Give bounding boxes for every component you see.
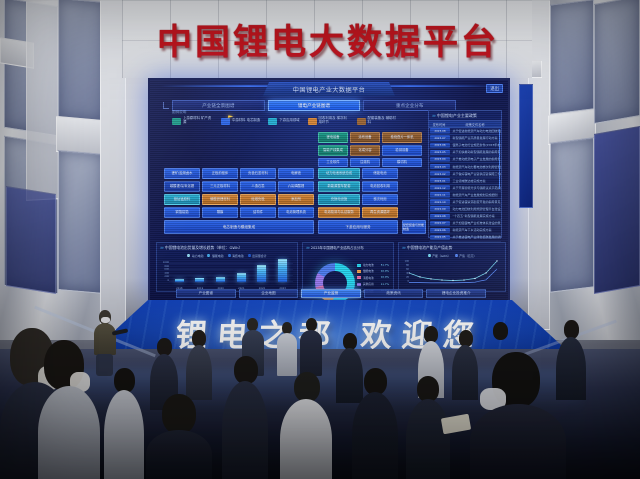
legend-entry: 产能（GWh） (428, 254, 451, 258)
policy-row[interactable]: 2023-03新能源汽车动力蓄电池梯次利用管理办法 (429, 163, 501, 170)
legend-entry: 其他应用11.7% (357, 282, 389, 286)
legend-item-midstream: 中游材料 电芯制造 (221, 118, 260, 125)
donut-chart-panel[interactable]: »» 2023年中国锂电产业结构占比分布 动力电池51.7% 储能电池10.0%… (302, 242, 394, 292)
exit-button[interactable]: 退出 (486, 84, 503, 93)
chain-card[interactable]: 模切机 (382, 158, 422, 167)
legend-text: 配套装备及 辅助材料 (368, 117, 398, 124)
bar-chart-panel[interactable]: »» 中国锂电池出货量及增长趋势（单位：GWh） 动力电池 储能电池 消费电池 … (156, 242, 298, 292)
chain-card[interactable]: 锂电装备 (318, 132, 348, 143)
policy-date: 2023-03 (430, 164, 450, 169)
audience-member-foreground (38, 340, 100, 479)
legend-entry: 产值（亿元） (455, 254, 477, 258)
audience-member (222, 356, 268, 479)
y-tick: 20 (400, 276, 409, 279)
chain-card[interactable]: 镍钴锰原料 (164, 194, 200, 205)
chain-card[interactable]: 碳酸锂/氢氧化锂 (164, 181, 200, 192)
legend-entry: 动力电池 (187, 254, 203, 258)
policy-date: 2023-08 (430, 128, 450, 133)
chain-card[interactable]: 检测设备 (382, 145, 422, 156)
bar-group (237, 273, 246, 282)
legend-item-equipment: 配套装备及 辅助材料 (357, 117, 398, 124)
line-chart-panel[interactable]: »» 中国锂电池产能及产值走势 产能（GWh） 产值（亿元） 100 80 60… (398, 242, 506, 292)
policy-row[interactable]: 2023-04关于推动能源电子产业发展的指导意见 (429, 156, 501, 163)
legend-text: 回收利用及 梯次利用环节 (319, 117, 349, 124)
bottom-nav-investment[interactable]: 锂电企业投资推介 (426, 289, 486, 298)
industry-chain-matrix: 锂矿/盐湖卤水 正极前驱体 负极石墨材料 电解液 碳酸锂/氢氧化锂 三元正极材料… (164, 132, 426, 240)
page-title: 中国锂电大数据平台 (128, 16, 528, 62)
line-chart-legend: 产能（GWh） 产值（亿元） (399, 252, 505, 259)
chain-card[interactable]: 锂矿/盐湖卤水 (164, 168, 200, 179)
chain-card[interactable]: 隔膜 (202, 207, 238, 218)
policy-date: 2022-05 (430, 235, 450, 240)
policy-row[interactable]: 2022-11新能源汽车产业发展规划实施细则 (429, 192, 501, 199)
bottom-nav-industry-monitor[interactable]: 产业监测 (301, 289, 361, 298)
policy-col-date: 发布时间 (429, 121, 449, 127)
chain-card[interactable]: 储能电池 (362, 168, 398, 179)
policy-row[interactable]: 2023-05关于加快推动新型储能发展的指导意见 (429, 149, 501, 156)
policy-date: 2022-06 (430, 228, 450, 233)
legend-swatch (308, 118, 317, 125)
chain-group-footer-left[interactable]: 电芯制造与模组集成 (164, 220, 314, 234)
bottom-nav-industry-map[interactable]: 产业图谱 (176, 289, 236, 298)
legend-swatch (221, 118, 230, 125)
legend-item-downstream: 下游应用领域 (268, 118, 299, 125)
policy-row[interactable]: 2023-07新型储能产业高质量发展行动方案 (429, 135, 501, 142)
policy-row[interactable]: 2022-09动力电池回收利用溯源管理平台建设方案 (429, 206, 501, 213)
y-tick: 0 (400, 280, 409, 283)
matrix-row: 动力电池系统总成 储能电池 (318, 168, 398, 179)
y-tick: 40 (400, 272, 409, 275)
policy-date: 2022-11 (430, 192, 450, 197)
legend-text: 上游原材料 矿产资源 (183, 117, 213, 124)
chain-card[interactable]: 充换电设施 (318, 194, 360, 205)
line-series-capacity (409, 261, 497, 281)
chain-card[interactable]: 电池回收利用 (362, 181, 398, 192)
policy-date: 2022-07 (430, 221, 450, 226)
line-chart-plot (409, 260, 503, 286)
legend-entry: 消费电池 (228, 254, 244, 258)
policy-row[interactable]: 2022-06新能源汽车下乡活动实施方案 (429, 227, 501, 234)
y-tick: 1000 (159, 261, 169, 264)
policy-title: “十四五”新型储能发展实施方案 (451, 213, 501, 219)
bar-chart-y-axis: 1000 800 600 400 200 0 (159, 261, 169, 282)
legend-entry: 出货量合计 (248, 254, 267, 258)
policy-date: 2022-09 (430, 206, 450, 211)
policy-title: 关于推动能源电子产业发展的指导意见 (451, 156, 501, 162)
audience-member-with-phone (470, 352, 566, 479)
chain-card[interactable]: 新能源整车配套 (318, 181, 360, 192)
policy-date: 2023-02 (430, 171, 450, 176)
line-chart-y-axis: 100 80 60 40 20 0 (400, 260, 409, 283)
bar-group (278, 259, 287, 282)
chain-card[interactable]: 电池管理系统 (278, 207, 314, 218)
policy-row[interactable]: 2022-07关于加强锂电产业标准体系建设的意见 (429, 220, 501, 227)
legend-entry: 消费电池10.0% (357, 276, 389, 280)
chain-card[interactable]: 结构件 (240, 207, 276, 218)
bar-group (175, 279, 184, 282)
policy-date: 2023-01 (430, 178, 450, 183)
chain-card[interactable]: 铜箔铝箔 (164, 207, 200, 218)
chain-card[interactable]: 动力电池系统总成 (318, 168, 360, 179)
chain-card[interactable]: 电解液 (278, 168, 314, 179)
bottom-nav-enterprise-map[interactable]: 企业地图 (239, 289, 299, 298)
legend-caption: 图例说明 (172, 110, 186, 115)
y-tick: 200 (159, 275, 169, 278)
policy-row[interactable]: 2023-08关于促进新能源汽车动力电池回收利用的通知 (429, 128, 501, 135)
dashboard-tabs: 产业链全景图谱 锂电产业链图谱 重点企业分布 (172, 100, 456, 111)
matrix-row: 工业软件 注液机 模切机 (318, 158, 422, 167)
policy-row[interactable]: 2022-05关于推进锂电产业绿色低碳发展的通知 (429, 234, 501, 241)
tab-lithium-chain-map[interactable]: 锂电产业链图谱 (268, 100, 361, 111)
policy-title: 新型储能产业高质量发展行动方案 (451, 135, 501, 141)
legend-entry: 动力电池51.7% (357, 263, 389, 267)
chain-card[interactable]: 磷酸铁锂材料 (202, 194, 238, 205)
audience-member (352, 368, 398, 479)
policy-panel-header: »» 中国锂电产业主要政策 (429, 111, 501, 121)
tab-prev-arrow-icon[interactable] (163, 102, 169, 109)
chevron-right-icon: »» (402, 245, 405, 250)
chain-card[interactable]: 六氟磷酸锂 (278, 181, 314, 192)
audience-member (280, 372, 332, 479)
left-architecture-column (0, 0, 126, 340)
policy-row[interactable]: 2023-02关于做好锂电产业链供应链保障工作的通知 (429, 171, 501, 178)
policy-date: 2023-06 (430, 143, 450, 148)
policy-row[interactable]: 2022-12关于开展智能光伏与储能试点示范的通知 (429, 185, 501, 192)
dashboard-bottom-nav: 产业图谱 企业地图 产业监测 政策资讯 锂电企业投资推介 (176, 289, 486, 298)
policy-list-panel[interactable]: »» 中国锂电产业主要政策 发布时间 政策文件名称 2023-08关于促进新能源… (428, 110, 502, 238)
legend-text: 中游材料 电芯制造 (232, 119, 260, 123)
chain-card[interactable]: 梯次利用 (362, 194, 398, 205)
y-tick: 600 (159, 268, 169, 271)
exhibition-photo-scene: 中国锂电大数据平台 中国锂电产业大数据平台 退出 产业链全景图谱 锂电产业链图谱… (0, 0, 640, 479)
dashboard-header: 中国锂电产业大数据平台 退出 (150, 81, 508, 98)
matrix-row: 锂矿/盐湖卤水 正极前驱体 负极石墨材料 电解液 (164, 168, 314, 179)
chain-card[interactable]: 人造石墨 (240, 181, 276, 192)
policy-title: 关于促进新能源汽车动力电池回收利用的通知 (451, 128, 501, 134)
policy-date: 2023-05 (430, 150, 450, 155)
standing-staff (277, 322, 297, 376)
chain-legend: 图例说明 上游原材料 矿产资源 中游材料 电芯制造 下游应用领域 回收利用及 梯… (172, 115, 462, 127)
chain-card[interactable]: 电池检测与认证服务 (318, 207, 360, 218)
matrix-row: 镍钴锰原料 磷酸铁锂材料 硅碳负极 添加剂 (164, 194, 314, 205)
y-tick: 60 (400, 268, 409, 271)
policy-date: 2022-10 (430, 199, 450, 204)
side-info-screen (519, 84, 533, 208)
chevron-right-icon: »» (306, 245, 309, 250)
policy-panel-title: 中国锂电产业主要政策 (437, 113, 477, 119)
policy-date: 2023-04 (430, 157, 450, 162)
matrix-row: 碳酸锂/氢氧化锂 三元正极材料 人造石墨 六氟磷酸锂 (164, 181, 314, 192)
policy-title: 关于开展智能光伏与储能试点示范的通知 (451, 185, 501, 191)
policy-row[interactable]: 2023-06锂离子电池行业规范条件(2023年本) (429, 142, 501, 149)
chain-card[interactable]: 化成分容 (350, 145, 380, 156)
policy-title: 动力电池回收利用溯源管理平台建设方案 (451, 206, 501, 212)
y-tick: 800 (159, 265, 169, 268)
chain-card[interactable]: 工业软件 (318, 158, 348, 167)
chain-card[interactable]: 注液机 (350, 158, 380, 167)
matrix-row: 充换电设施 梯次利用 (318, 194, 398, 205)
chain-card[interactable]: 正极前驱体 (202, 168, 238, 179)
standing-staff (300, 318, 322, 376)
bar-group (257, 265, 266, 282)
chain-card[interactable]: 三元正极材料 (202, 181, 238, 192)
bar-group (195, 278, 204, 282)
y-tick: 0 (159, 279, 169, 282)
bar-chart-header: »» 中国锂电池出货量及增长趋势（单位：GWh） (157, 243, 297, 252)
bar-chart-legend: 动力电池 储能电池 消费电池 出货量合计 (157, 252, 297, 259)
policy-table-header: 发布时间 政策文件名称 (429, 121, 501, 128)
policy-title: 关于加强锂电产业标准体系建设的意见 (451, 220, 501, 226)
chain-card[interactable]: 负极石墨材料 (240, 168, 276, 179)
policy-title: 锂离子电池行业规范条件(2023年本) (451, 142, 501, 148)
bar-chart-plot (169, 261, 293, 282)
legend-item-recycling: 回收利用及 梯次利用环节 (308, 117, 349, 124)
policy-title: 关于推进锂电产业绿色低碳发展的通知 (451, 234, 501, 240)
audience-member-foreground (146, 394, 212, 479)
chevron-right-icon: »» (432, 113, 435, 118)
bar-group (216, 277, 225, 282)
matrix-row: 电池检测与认证服务 再生资源循环 (318, 207, 398, 218)
policy-date: 2022-08 (430, 214, 450, 219)
legend-swatch (172, 118, 181, 125)
matrix-row: 铜箔铝箔 隔膜 结构件 电池管理系统 (164, 207, 314, 218)
policy-title: 新能源汽车下乡活动实施方案 (451, 227, 501, 233)
y-tick: 80 (400, 264, 409, 267)
policy-title: 关于促进锂资源勘查开发的指导意见 (451, 199, 501, 205)
audience-member (186, 330, 212, 400)
policy-scrollbar[interactable] (499, 129, 501, 189)
matrix-row: 新能源整车配套 电池回收利用 (318, 181, 398, 192)
legend-swatch (357, 118, 366, 125)
bottom-nav-policy-news[interactable]: 政策资讯 (364, 289, 424, 298)
line-series-markers (409, 260, 498, 281)
policy-title: 新能源汽车动力蓄电池梯次利用管理办法 (451, 163, 501, 169)
y-tick: 400 (159, 272, 169, 275)
led-dashboard-screen[interactable]: 中国锂电产业大数据平台 退出 产业链全景图谱 锂电产业链图谱 重点企业分布 图例… (148, 78, 510, 302)
y-tick: 100 (400, 260, 409, 263)
dashboard-title: 中国锂电产业大数据平台 (263, 82, 395, 96)
chain-card[interactable]: 涂布设备 (350, 132, 380, 143)
audience-member (104, 368, 144, 479)
donut-chart-title: 2023年中国锂电产业结构占比分布 (311, 245, 364, 250)
chain-group-footer-right[interactable]: 配套装备与智能制造 (402, 220, 426, 234)
legend-entry: 储能电池10.0% (357, 269, 389, 273)
policy-col-title: 政策文件名称 (449, 121, 501, 127)
line-chart-title: 中国锂电池产能及产值走势 (407, 245, 453, 251)
chevron-right-icon: »» (160, 245, 163, 250)
policy-title: 关于做好锂电产业链供应链保障工作的通知 (451, 171, 501, 177)
right-architecture-column (528, 0, 640, 340)
foreground-torso (470, 404, 566, 479)
legend-item-upstream: 上游原材料 矿产资源 (172, 117, 213, 124)
chain-card[interactable]: 智能产线集成 (318, 145, 348, 156)
legend-text: 下游应用领域 (279, 119, 299, 123)
policy-date: 2023-07 (430, 135, 450, 140)
legend-entry: 储能电池 (207, 254, 223, 258)
line-chart-header: »» 中国锂电池产能及产值走势 (399, 243, 505, 252)
policy-row[interactable]: 2023-01工业领域碳达峰实施方案 (429, 178, 501, 185)
chain-card[interactable]: 硅碳负极 (240, 194, 276, 205)
bar-chart-title: 中国锂电池出货量及增长趋势（单位：GWh） (165, 245, 242, 251)
policy-title: 关于加快推动新型储能发展的指导意见 (451, 149, 501, 155)
matrix-row: 锂电装备 涂布设备 卷绕叠片一体机 (318, 132, 422, 143)
chain-card[interactable]: 添加剂 (278, 194, 314, 205)
policy-date: 2022-12 (430, 185, 450, 190)
chain-group-footer-mid[interactable]: 下游应用与服务 (318, 220, 398, 234)
policy-row[interactable]: 2022-10关于促进锂资源勘查开发的指导意见 (429, 199, 501, 206)
policy-title: 工业领域碳达峰实施方案 (451, 178, 501, 184)
chain-card[interactable]: 再生资源循环 (362, 207, 398, 218)
chain-card[interactable]: 卷绕叠片一体机 (382, 132, 422, 143)
legend-swatch (268, 118, 277, 125)
policy-row[interactable]: 2022-08“十四五”新型储能发展实施方案 (429, 213, 501, 220)
policy-title: 新能源汽车产业发展规划实施细则 (451, 192, 501, 198)
donut-chart-header: »» 2023年中国锂电产业结构占比分布 (303, 243, 393, 252)
matrix-row: 智能产线集成 化成分容 检测设备 (318, 145, 422, 156)
